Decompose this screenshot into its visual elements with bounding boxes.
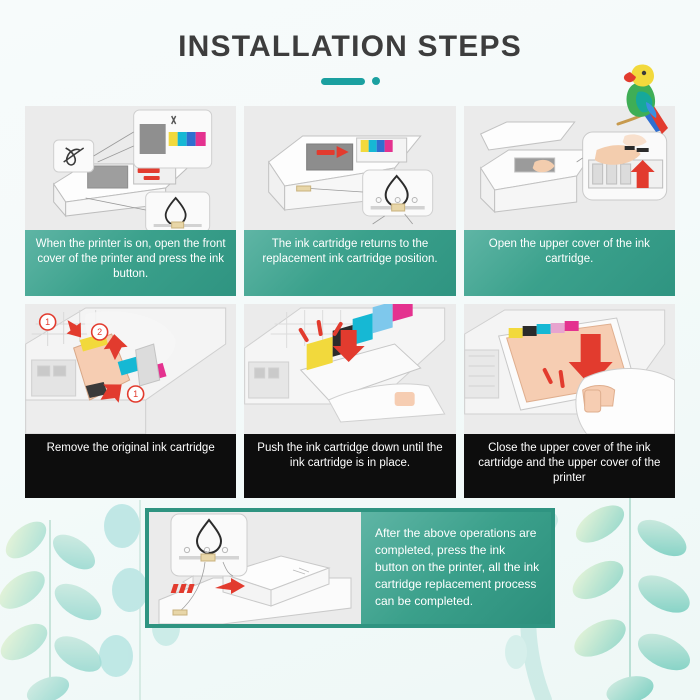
page-header: INSTALLATION STEPS bbox=[0, 0, 700, 85]
steps-grid: When the printer is on, open the front c… bbox=[25, 106, 675, 498]
step-4-illustration: 121 bbox=[25, 304, 236, 434]
step-card-5[interactable]: Push the ink cartridge down until the in… bbox=[244, 304, 455, 498]
parrot-icon bbox=[612, 58, 676, 136]
final-step-illustration bbox=[149, 512, 361, 624]
step-1-caption: When the printer is on, open the front c… bbox=[25, 230, 236, 296]
svg-text:1: 1 bbox=[45, 317, 50, 327]
step-3-caption: Open the upper cover of the ink cartridg… bbox=[464, 230, 675, 296]
step-6-caption: Close the upper cover of the ink cartrid… bbox=[464, 434, 675, 498]
final-step-card[interactable]: After the above operations are completed… bbox=[145, 508, 555, 628]
accent-dash-icon bbox=[321, 78, 365, 85]
svg-text:2: 2 bbox=[97, 327, 102, 337]
page-title: INSTALLATION STEPS bbox=[0, 30, 700, 64]
step-5-illustration bbox=[244, 304, 455, 434]
step-card-6[interactable]: Close the upper cover of the ink cartrid… bbox=[464, 304, 675, 498]
step-6-illustration bbox=[464, 304, 675, 434]
step-2-illustration bbox=[244, 106, 455, 230]
svg-text:1: 1 bbox=[133, 389, 138, 399]
step-5-caption: Push the ink cartridge down until the in… bbox=[244, 434, 455, 498]
step-card-4[interactable]: 121 Remove the original ink cartridge bbox=[25, 304, 236, 498]
final-step-caption: After the above operations are completed… bbox=[361, 512, 551, 624]
step-card-1[interactable]: When the printer is on, open the front c… bbox=[25, 106, 236, 296]
title-accent-decoration bbox=[0, 77, 700, 85]
step-1-illustration bbox=[25, 106, 236, 230]
step-2-caption: The ink cartridge returns to the replace… bbox=[244, 230, 455, 296]
accent-dot-icon bbox=[372, 77, 380, 85]
step-4-caption: Remove the original ink cartridge bbox=[25, 434, 236, 498]
step-card-2[interactable]: The ink cartridge returns to the replace… bbox=[244, 106, 455, 296]
